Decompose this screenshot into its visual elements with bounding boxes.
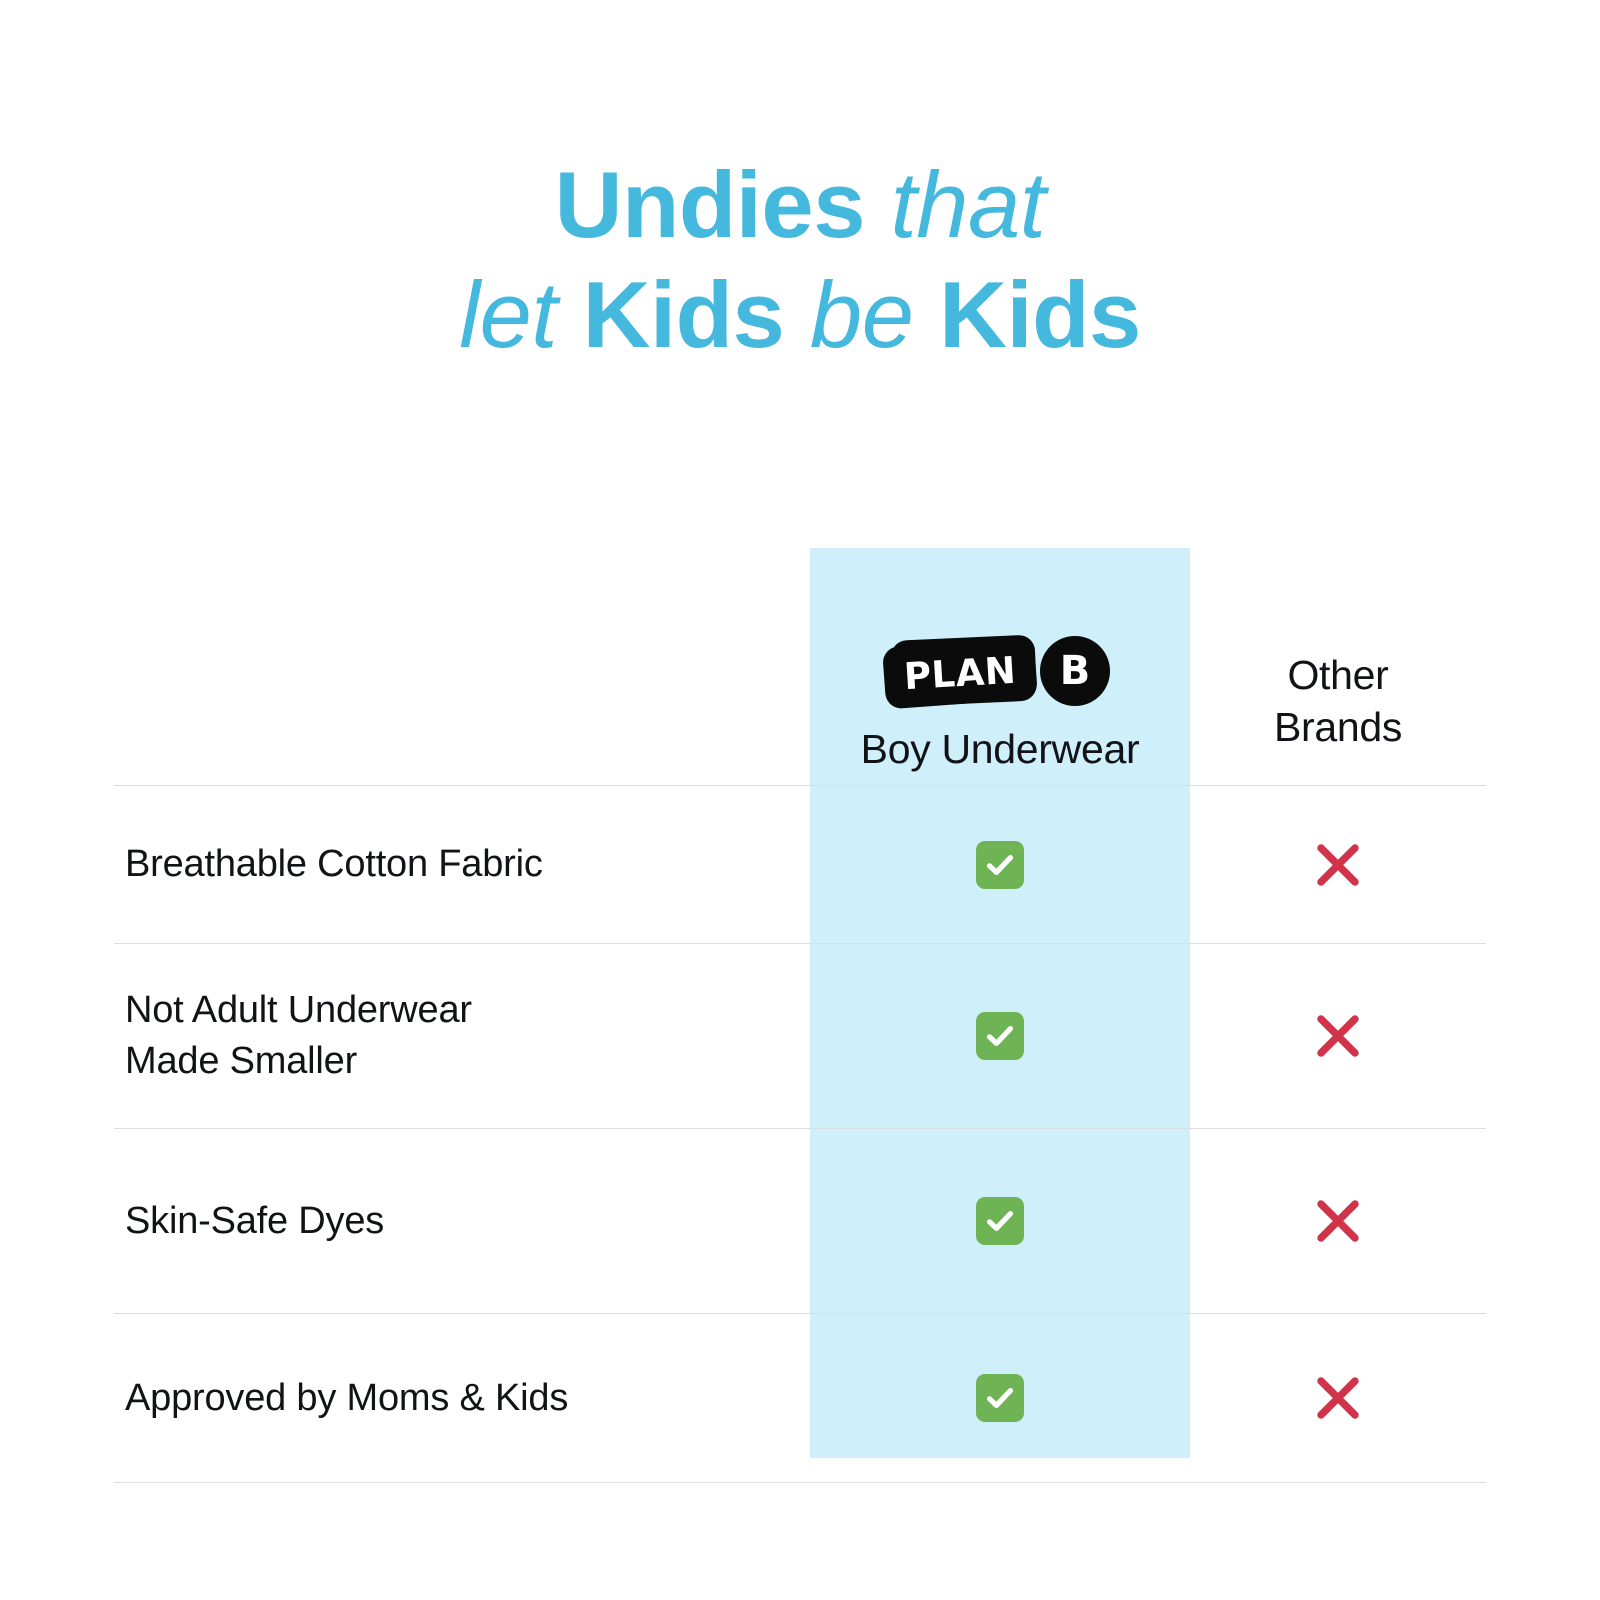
- headline-word-be: be: [810, 262, 914, 367]
- table-row: Not Adult Underwear Made Smaller: [114, 943, 1486, 1128]
- feature-label: Skin-Safe Dyes: [114, 1196, 810, 1247]
- brand-cell: [810, 1012, 1190, 1060]
- headline-word-undies: Undies: [555, 152, 865, 257]
- plan-b-logo: PLAN B: [884, 630, 1116, 716]
- check-icon: [976, 841, 1024, 889]
- headline-line-1: Undies that: [0, 150, 1600, 260]
- check-icon: [976, 1374, 1024, 1422]
- table-row: Skin-Safe Dyes: [114, 1128, 1486, 1313]
- check-icon: [976, 1012, 1024, 1060]
- table-row: Approved by Moms & Kids: [114, 1313, 1486, 1483]
- table-header: PLAN B Boy Underwear Other Brands: [114, 520, 1486, 785]
- brand-cell: [810, 841, 1190, 889]
- comparison-infographic: { "headline": { "line1_bold": "Undies", …: [0, 0, 1600, 1600]
- table-body: Breathable Cotton Fabric Not Adult Under…: [114, 785, 1486, 1483]
- brand-column-header: PLAN B Boy Underwear: [810, 548, 1190, 785]
- brand-cell: [810, 1374, 1190, 1422]
- cross-icon: [1312, 1195, 1364, 1247]
- other-brands-line-1: Other: [1287, 649, 1388, 701]
- feature-label-line-2: Made Smaller: [125, 1036, 810, 1087]
- comparison-table: PLAN B Boy Underwear Other Brands Breath…: [114, 520, 1486, 1465]
- table-row: Breathable Cotton Fabric: [114, 785, 1486, 943]
- feature-label: Breathable Cotton Fabric: [114, 839, 810, 890]
- page-headline: Undies that let Kids be Kids: [0, 150, 1600, 370]
- other-brands-cell: [1190, 1010, 1486, 1062]
- other-brands-cell: [1190, 839, 1486, 891]
- logo-b-badge: B: [1040, 636, 1110, 706]
- logo-plan-text: PLAN: [882, 638, 1037, 709]
- feature-label: Not Adult Underwear Made Smaller: [114, 985, 810, 1087]
- other-brands-cell: [1190, 1195, 1486, 1247]
- brand-cell: [810, 1197, 1190, 1245]
- headline-word-let: let: [459, 262, 557, 367]
- feature-label: Approved by Moms & Kids: [114, 1373, 810, 1424]
- cross-icon: [1312, 1372, 1364, 1424]
- other-brands-line-2: Brands: [1274, 701, 1402, 753]
- headline-line-2: let Kids be Kids: [0, 260, 1600, 370]
- check-icon: [976, 1197, 1024, 1245]
- cross-icon: [1312, 839, 1364, 891]
- other-brands-cell: [1190, 1372, 1486, 1424]
- cross-icon: [1312, 1010, 1364, 1062]
- brand-subtitle: Boy Underwear: [861, 726, 1140, 773]
- other-brands-column-header: Other Brands: [1190, 548, 1486, 785]
- headline-word-kids-2: Kids: [939, 262, 1141, 367]
- headline-word-that: that: [891, 152, 1046, 257]
- headline-word-kids-1: Kids: [583, 262, 785, 367]
- feature-label-line-1: Not Adult Underwear: [125, 985, 810, 1036]
